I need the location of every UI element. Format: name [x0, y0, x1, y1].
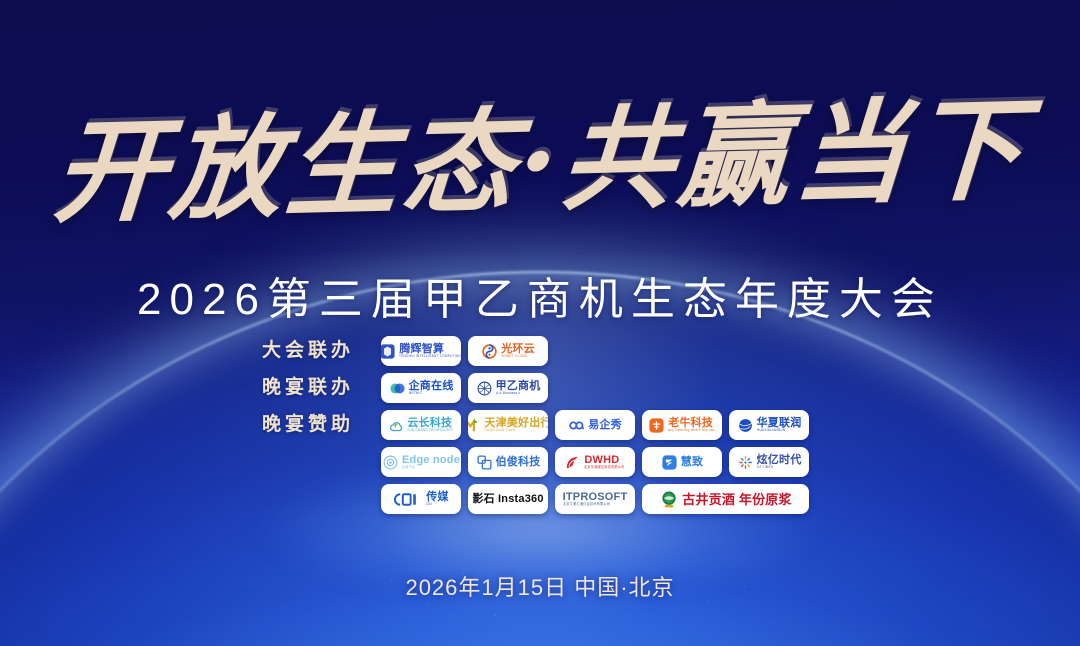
sponsor-name-en: CBI — [426, 503, 448, 506]
sponsor-logo-card[interactable]: 甲乙商机A-b Business-c — [468, 373, 548, 403]
sponsor-logo-card[interactable]: 慧致 — [642, 447, 722, 477]
sponsor-name-en: Any Data Any where Any call — [668, 429, 715, 432]
sponsor-row: 晚宴赞助云长科技YUN CHANG TECHNOLOGY天津美好出行Tianji… — [262, 410, 822, 440]
sponsor-logo-card[interactable]: 易企秀 — [555, 410, 635, 440]
sponsor-logo-card[interactable]: 传媒CBI — [381, 484, 461, 514]
sponsor-logo-card[interactable]: 炫亿时代XZ TIMES — [729, 447, 809, 477]
sponsor-name-cn: 慧致 — [681, 457, 703, 468]
sponsor-logo-card[interactable]: 老牛科技Any Data Any where Any call — [642, 410, 722, 440]
sponsor-grid: 大会联办腾辉智算TENGHUI INTELLIGENT COMPUTING光环云… — [262, 336, 822, 514]
blue-arrow-icon — [661, 454, 678, 471]
title-block: 开放生态·共赢当下 — [0, 96, 1080, 228]
sponsor-row-label: 晚宴赞助 — [262, 410, 374, 440]
sponsor-row: 大会联办腾辉智算TENGHUI INTELLIGENT COMPUTING光环云… — [262, 336, 822, 366]
sponsor-logo-card[interactable]: DWHD北京东润威达科技有限公司 — [555, 447, 635, 477]
red-wave-icon — [564, 454, 581, 471]
sponsor-name-en: XZ TIMES — [757, 466, 801, 469]
sponsor-logo-card[interactable]: 云长科技YUN CHANG TECHNOLOGY — [381, 410, 461, 440]
sponsor-logo-card[interactable]: 伯俊科技 — [468, 447, 548, 477]
swirl-icon — [481, 343, 498, 360]
sponsor-name-cn: 易企秀 — [588, 420, 622, 431]
sponsor-logo-card[interactable]: 影石 Insta360 — [468, 484, 548, 514]
sponsor-logo-card[interactable]: 光环云SINNET CLOUD — [468, 336, 548, 366]
sponsor-name-en: 北京艾美汇通信息技术有限公司 — [563, 503, 626, 506]
sponsor-logo-card[interactable]: 天津美好出行Tianjin Good Travel — [468, 410, 548, 440]
squares-icon — [476, 454, 493, 471]
main-title: 开放生态·共赢当下 — [0, 83, 1080, 242]
sponsor-row-label: 大会联办 — [262, 336, 374, 366]
sponsor-name-en: YUN CHANG TECHNOLOGY — [407, 429, 453, 432]
orange-badge-icon — [648, 417, 665, 434]
sponsor-name-en: SINNET CLOUD — [501, 355, 534, 358]
burst-icon — [737, 454, 754, 471]
sponsor-name-en: HUAXIALIANRUN — [757, 429, 801, 432]
conference-poster: 开放生态·共赢当下 2026第三届甲乙商机生态年度大会 大会联办腾辉智算TENG… — [0, 0, 1080, 646]
sponsor-name-en: 北京东润威达科技有限公司 — [584, 466, 624, 469]
sponsor-name-en: A-b Business-c — [496, 392, 540, 395]
sponsor-row: 晚宴联办企商在线NETNIC甲乙商机A-b Business-c — [262, 373, 822, 403]
circles-icon — [389, 380, 406, 397]
target-icon — [382, 454, 399, 471]
cloud-leaf-icon — [387, 417, 404, 434]
sponsor-logo-card[interactable]: ITPROSOFT北京艾美汇通信息技术有限公司 — [555, 484, 635, 514]
sponsor-logo-card[interactable]: 腾辉智算TENGHUI INTELLIGENT COMPUTING — [381, 336, 461, 366]
gujing-icon — [659, 489, 679, 509]
sponsor-name-en: NETNIC — [409, 392, 453, 395]
sponsor-name-en: Tianjin Good Travel — [484, 429, 548, 432]
sponsor-row: -Edge node边缘节点伯俊科技DWHD北京东润威达科技有限公司慧致炫亿时代… — [262, 447, 822, 477]
cube-icon — [381, 343, 396, 360]
sponsor-name-cn: 古井贡酒 年份原浆 — [682, 493, 791, 506]
blue-globe-icon — [737, 417, 754, 434]
sponsor-row-label: 晚宴联办 — [262, 373, 374, 403]
sponsor-logo-card[interactable]: 华夏联润HUAXIALIANRUN — [729, 410, 809, 440]
m-letter-icon — [468, 417, 481, 434]
cbi-icon — [393, 492, 423, 507]
sponsor-logo-card[interactable]: 古井贡酒 年份原浆 — [642, 484, 809, 514]
infinity-icon — [568, 417, 585, 434]
sponsor-name-en: TENGHUI INTELLIGENT COMPUTING — [399, 355, 461, 358]
subtitle: 2026第三届甲乙商机生态年度大会 — [0, 263, 1080, 327]
date-location-line: 2026年1月15日 中国·北京 — [0, 570, 1080, 602]
sponsor-row: -传媒CBI影石 Insta360ITPROSOFT北京艾美汇通信息技术有限公司… — [262, 484, 822, 514]
globe-grid-icon — [476, 380, 493, 397]
sponsor-name-en: 边缘节点 — [402, 466, 459, 469]
sponsor-logo-card[interactable]: Edge node边缘节点 — [381, 447, 461, 477]
sponsor-name-cn: 伯俊科技 — [496, 457, 541, 468]
sponsor-name-cn: 影石 Insta360 — [472, 494, 543, 505]
sponsor-logo-card[interactable]: 企商在线NETNIC — [381, 373, 461, 403]
